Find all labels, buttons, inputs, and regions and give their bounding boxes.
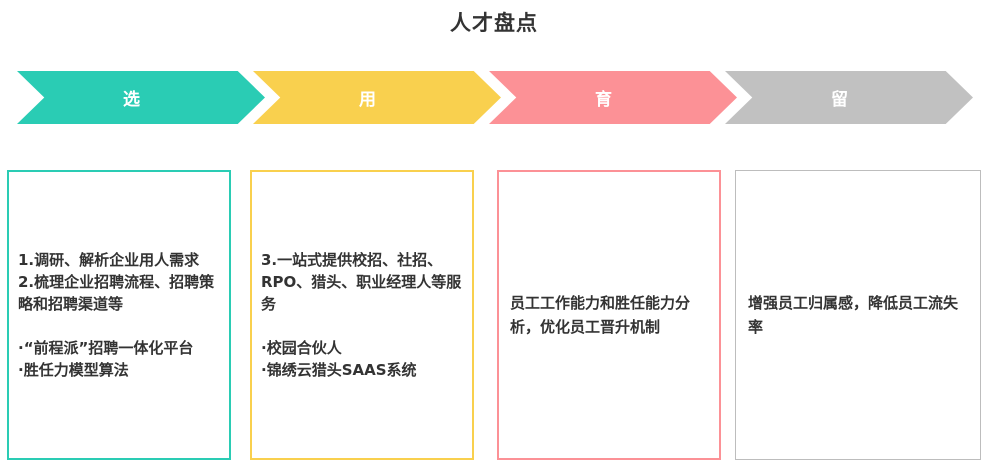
process-chevron-band: 选 用 育 留 (0, 71, 988, 124)
detail-card-develop-body: 员工工作能力和胜任能力分析，优化员工晋升机制 (499, 291, 719, 339)
stage-chevron-use[interactable]: 用 (253, 71, 501, 124)
stage-label-use: 用 (359, 85, 395, 110)
detail-card-develop: 员工工作能力和胜任能力分析，优化员工晋升机制 (497, 170, 721, 460)
stage-detail-cards: 1.调研、解析企业用人需求 2.梳理企业招聘流程、招聘策略和招聘渠道等 ·“前程… (0, 170, 988, 461)
detail-card-use-paragraph-2: ·校园合伙人 ·锦绣云猎头SAAS系统 (261, 337, 463, 381)
stage-label-select: 选 (123, 85, 159, 110)
detail-card-use-body: 3.一站式提供校招、社招、RPO、猎头、职业经理人等服务 ·校园合伙人 ·锦绣云… (252, 249, 472, 381)
detail-card-retain-body: 增强员工归属感，降低员工流失率 (736, 291, 980, 339)
detail-card-retain: 增强员工归属感，降低员工流失率 (735, 170, 981, 460)
stage-chevron-retain[interactable]: 留 (725, 71, 973, 124)
detail-card-select-paragraph-2: ·“前程派”招聘一体化平台 ·胜任力模型算法 (18, 337, 220, 381)
stage-label-develop: 育 (595, 85, 631, 110)
detail-card-select-paragraph-1: 1.调研、解析企业用人需求 2.梳理企业招聘流程、招聘策略和招聘渠道等 (18, 249, 220, 315)
stage-chevron-develop[interactable]: 育 (489, 71, 737, 124)
detail-card-use: 3.一站式提供校招、社招、RPO、猎头、职业经理人等服务 ·校园合伙人 ·锦绣云… (250, 170, 474, 460)
detail-card-select-body: 1.调研、解析企业用人需求 2.梳理企业招聘流程、招聘策略和招聘渠道等 ·“前程… (9, 249, 229, 381)
page-title: 人才盘点 (0, 8, 988, 38)
stage-label-retain: 留 (831, 85, 867, 110)
detail-card-develop-paragraph-1: 员工工作能力和胜任能力分析，优化员工晋升机制 (510, 291, 711, 339)
detail-card-use-paragraph-1: 3.一站式提供校招、社招、RPO、猎头、职业经理人等服务 (261, 249, 463, 315)
detail-card-retain-paragraph-1: 增强员工归属感，降低员工流失率 (748, 291, 972, 339)
stage-chevron-select[interactable]: 选 (17, 71, 265, 124)
detail-card-select: 1.调研、解析企业用人需求 2.梳理企业招聘流程、招聘策略和招聘渠道等 ·“前程… (7, 170, 231, 460)
